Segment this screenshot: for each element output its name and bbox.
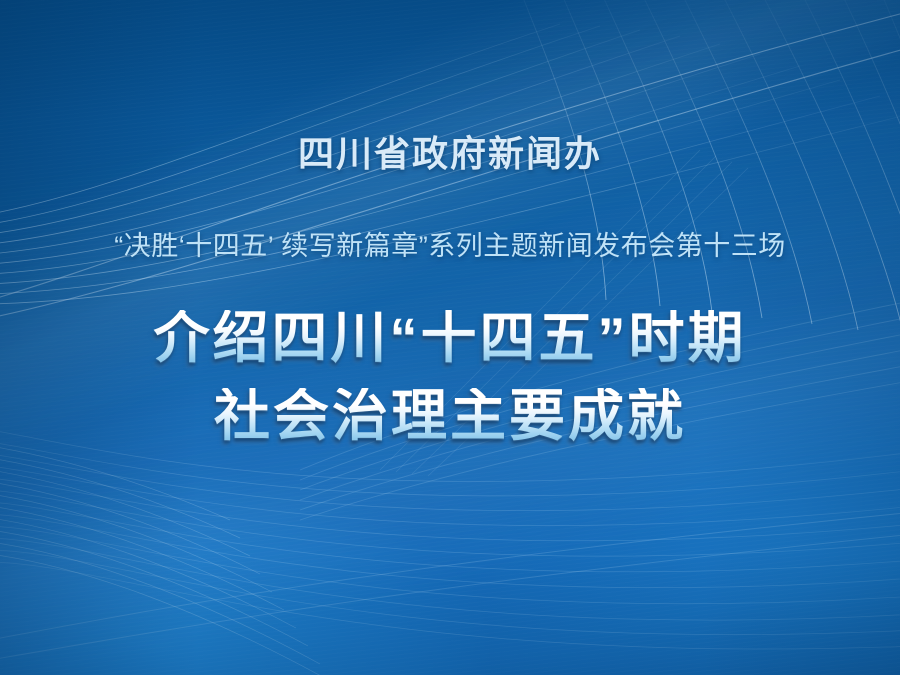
banner-content: 四川省政府新闻办 “决胜‘十四五’ 续写新篇章”系列主题新闻发布会第十三场 介绍… [0,0,900,675]
headline-line1: 介绍四川“十四五”时期 [0,310,900,366]
series-subtitle: “决胜‘十四五’ 续写新篇章”系列主题新闻发布会第十三场 [0,224,900,263]
press-conference-banner: 四川省政府新闻办 “决胜‘十四五’ 续写新篇章”系列主题新闻发布会第十三场 介绍… [0,0,900,675]
organization-name: 四川省政府新闻办 [0,125,900,177]
headline-line2: 社会治理主要成就 [0,388,900,444]
